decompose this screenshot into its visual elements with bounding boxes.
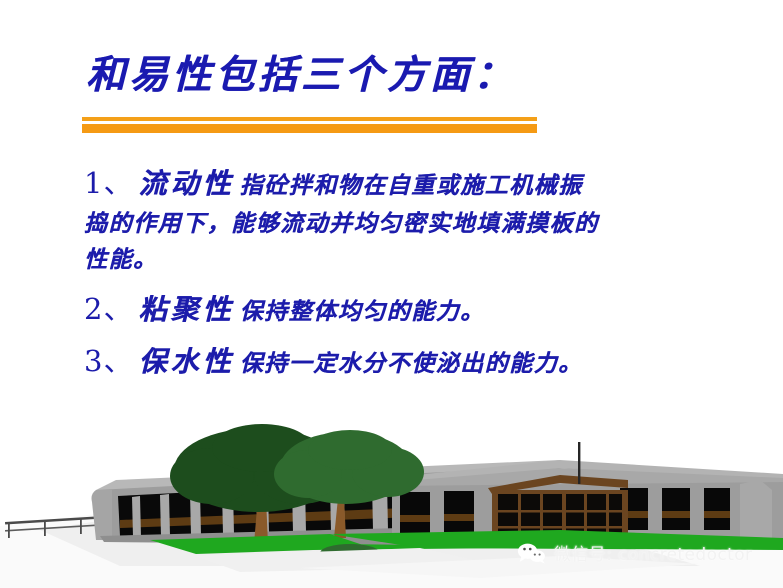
list-item-first-line: 2、 粘聚性 保持整体均匀的能力。	[84, 286, 744, 328]
list-item-number: 2、	[84, 292, 133, 326]
list-item-description: 保持整体均匀的能力。	[240, 298, 485, 325]
list-item-description: 指砼拌和物在自重或施工机械振	[240, 172, 583, 199]
list-item-number: 1、	[84, 166, 133, 200]
right-wing-end-cap	[740, 480, 772, 542]
list-item: 3、 保水性 保持一定水分不使泌出的能力。	[84, 338, 744, 380]
page-title: 和易性包括三个方面：	[86, 44, 516, 100]
list-item-first-line: 3、 保水性 保持一定水分不使泌出的能力。	[84, 338, 744, 380]
list-item-continuation: 性能。	[84, 240, 744, 274]
title-divider	[82, 117, 537, 133]
list-item-term: 粘聚性	[139, 293, 235, 326]
content-list: 1、 流动性 指砼拌和物在自重或施工机械振 捣的作用下，能够流动并均匀密实地填满…	[84, 160, 744, 384]
list-item-term: 保水性	[139, 345, 235, 378]
divider-line-thick	[82, 124, 537, 133]
list-item-continuation: 捣的作用下，能够流动并均匀密实地填满摸板的	[84, 204, 744, 238]
list-item-number: 3、	[84, 344, 133, 378]
list-item-first-line: 1、 流动性 指砼拌和物在自重或施工机械振	[84, 160, 744, 202]
flagpole	[578, 442, 580, 484]
list-item: 1、 流动性 指砼拌和物在自重或施工机械振 捣的作用下，能够流动并均匀密实地填满…	[84, 160, 744, 274]
slide-canvas: 和易性包括三个方面： 1、 流动性 指砼拌和物在自重或施工机械振 捣的作用下，能…	[0, 0, 783, 588]
list-item: 2、 粘聚性 保持整体均匀的能力。	[84, 286, 744, 328]
list-item-term: 流动性	[139, 167, 235, 200]
building-illustration	[0, 398, 783, 588]
list-item-description: 保持一定水分不使泌出的能力。	[240, 350, 583, 377]
